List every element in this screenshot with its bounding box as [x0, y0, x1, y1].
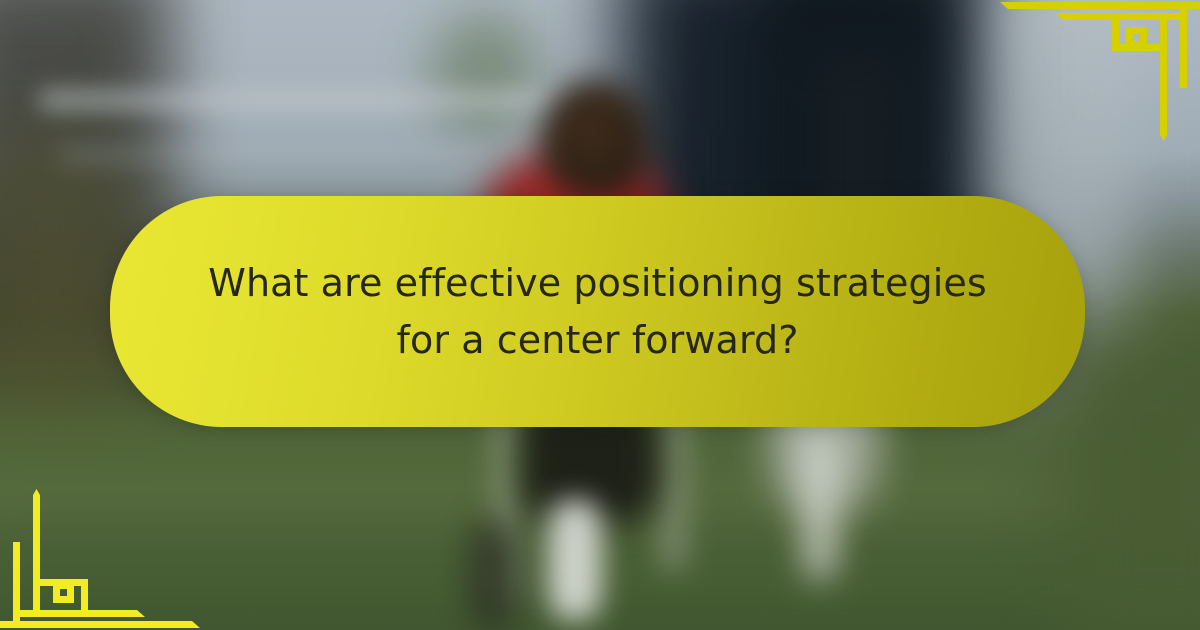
question-text: What are effective positioning strategie… — [203, 255, 993, 369]
share-card-canvas: What are effective positioning strategie… — [0, 0, 1200, 630]
question-card: What are effective positioning strategie… — [110, 196, 1085, 427]
corner-ornament-top-right — [1000, 0, 1200, 145]
corner-ornament-bottom-left — [0, 485, 200, 630]
